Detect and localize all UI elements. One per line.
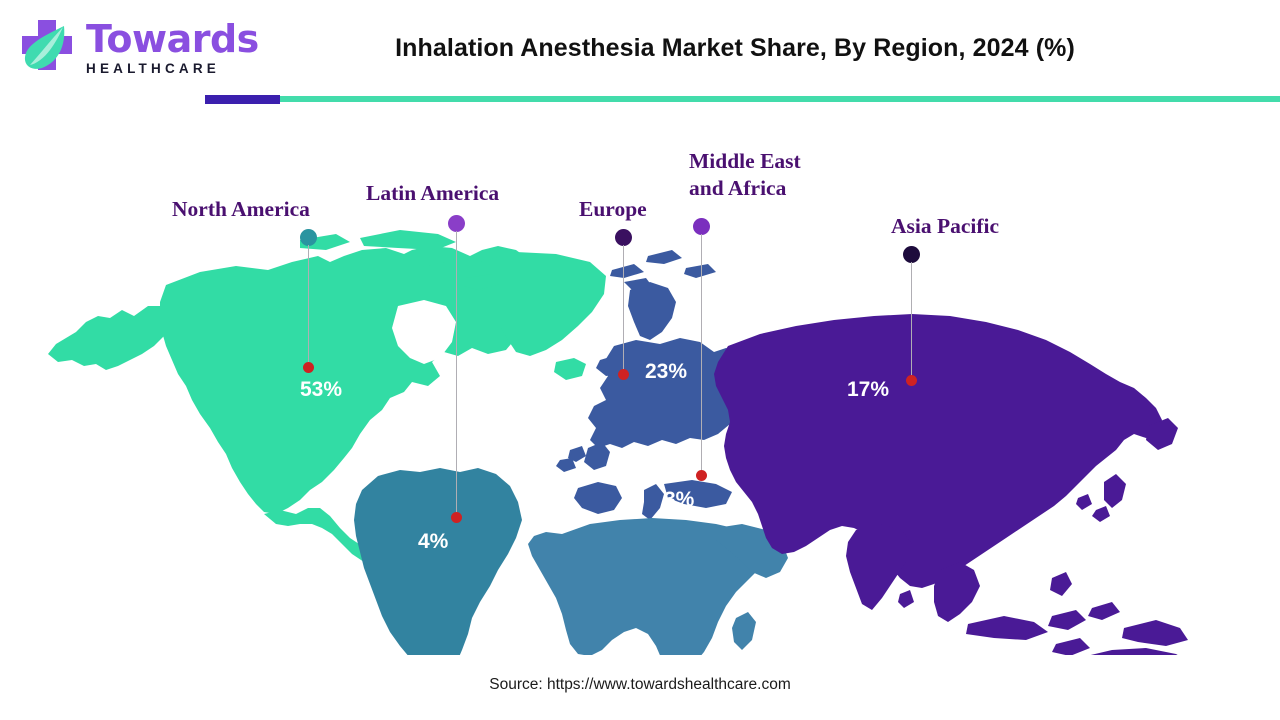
callout-connector-europe [623, 245, 625, 373]
header-divider [205, 95, 1280, 104]
callout-dot-europe [615, 229, 632, 246]
value-label-asia-pacific: 17% [847, 378, 889, 402]
page-title: Inhalation Anesthesia Market Share, By R… [205, 34, 1265, 63]
callout-dot-north-america [300, 229, 317, 246]
header: Towards HEALTHCARE Inhalation Anesthesia… [0, 0, 1280, 104]
world-map-graphic [0, 110, 1280, 655]
callout-connector-asia-pacific [911, 262, 913, 379]
divider-accent-segment [205, 95, 280, 104]
callout-pin-north-america [303, 362, 314, 373]
callout-dot-latin-america [448, 215, 465, 232]
logo-subwordmark: HEALTHCARE [86, 61, 246, 77]
source-text: Source: https://www.towardshealthcare.co… [0, 676, 1280, 694]
callout-connector-north-america [308, 245, 310, 366]
callout-label-asia-pacific: Asia Pacific [891, 213, 1071, 240]
map-region-north-america[interactable] [48, 230, 606, 580]
callout-pin-europe [618, 369, 629, 380]
callout-label-north-america: North America [172, 196, 372, 223]
callout-dot-asia-pacific [903, 246, 920, 263]
map-region-latin-america[interactable] [354, 468, 522, 655]
value-label-north-america: 53% [300, 378, 342, 402]
callout-label-latin-america: Latin America [366, 180, 566, 207]
callout-dot-middle-east-africa [693, 218, 710, 235]
callout-pin-asia-pacific [906, 375, 917, 386]
map-region-middle-east-africa[interactable] [528, 518, 788, 655]
callout-pin-latin-america [451, 512, 462, 523]
value-label-latin-america: 4% [418, 530, 448, 554]
value-label-europe: 23% [645, 360, 687, 384]
callout-connector-latin-america [456, 231, 458, 516]
medical-cross-leaf-icon [14, 16, 80, 82]
callout-pin-middle-east-africa [696, 470, 707, 481]
callout-label-middle-east-africa: Middle East and Africa [689, 148, 869, 202]
callout-connector-middle-east-africa [701, 234, 703, 474]
map-region-asia-pacific[interactable] [714, 314, 1256, 655]
value-label-middle-east-africa: 3% [664, 488, 694, 512]
world-map-container: North America 53% Latin America 4% Europ… [0, 110, 1280, 655]
divider-main-segment [280, 96, 1280, 102]
